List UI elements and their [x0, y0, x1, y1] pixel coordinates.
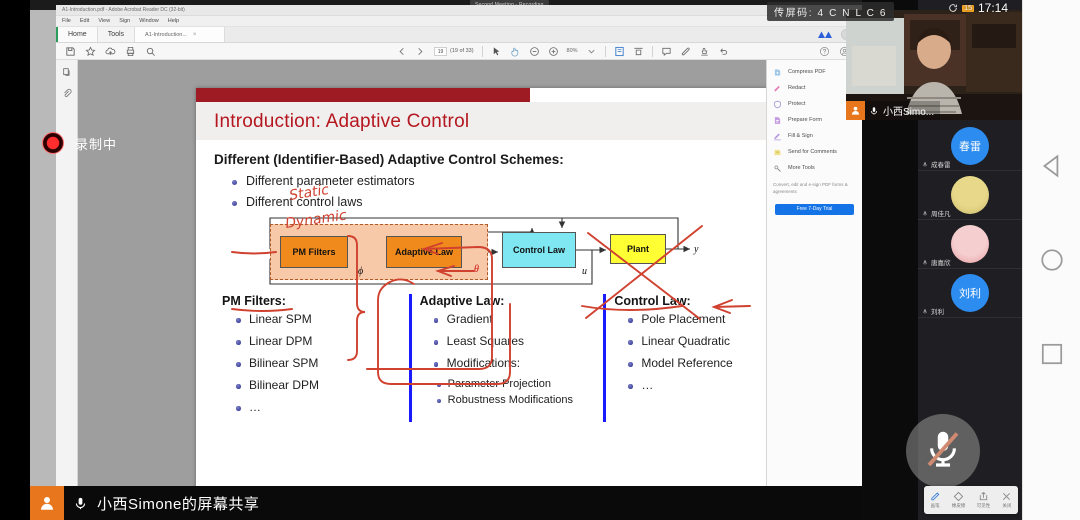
tab-tools[interactable]: Tools	[98, 27, 135, 42]
tool-send-for-comments[interactable]: Send for Comments	[767, 144, 862, 160]
highlight-icon[interactable]	[680, 46, 691, 57]
select-tool-icon[interactable]	[491, 46, 502, 57]
page-title: Introduction: Adaptive Control	[214, 111, 798, 133]
microphone-icon	[922, 308, 928, 315]
screen-share-banner: 小西Simone的屏幕共享	[30, 486, 862, 520]
menu-sign[interactable]: Sign	[119, 16, 130, 26]
tabbar-spacer	[225, 27, 817, 42]
acrobat-left-rail	[56, 60, 78, 497]
signal-y-label: y	[694, 244, 698, 255]
tab-document-label: A1-Introduction...	[145, 32, 187, 38]
list-item: Bilinear SPM	[236, 356, 401, 370]
participant-name: 刘利	[931, 306, 944, 316]
recording-indicator: 录制中	[42, 132, 117, 154]
adaptive-law-list: Gradient Least Squares Modifications:	[434, 312, 596, 370]
tool-more-tools[interactable]: More Tools	[767, 160, 862, 176]
more-tools-icon	[773, 164, 782, 173]
mic-mute-floating-button[interactable]	[906, 414, 980, 488]
self-view-name-bar: 小西Simo...	[846, 101, 940, 120]
sync-icon	[948, 3, 958, 13]
send-comments-icon	[773, 148, 782, 157]
toolbar-divider-3	[652, 46, 653, 57]
slide-heading: Different (Identifier-Based) Adaptive Co…	[214, 152, 798, 167]
comment-icon[interactable]	[661, 46, 672, 57]
zoom-out-icon[interactable]	[529, 46, 540, 57]
block-diagram: PM Filters Adaptive Law Control Law Plan…	[262, 216, 722, 290]
participant-name: 成春雷	[931, 159, 951, 169]
list-item: Parameter Projection	[437, 378, 596, 392]
compress-icon	[773, 68, 782, 77]
stamp-icon[interactable]	[699, 46, 710, 57]
participant-name-row: 唐嘉欣	[922, 257, 951, 267]
hand-tool-icon[interactable]	[510, 46, 521, 57]
avatar: 春雷	[951, 127, 989, 165]
tool-fill-and-sign[interactable]: Fill & Sign	[767, 128, 862, 144]
star-icon[interactable]	[85, 46, 96, 57]
acrobat-window: A1-Introduction.pdf - Adobe Acrobat Read…	[56, 5, 862, 497]
microphone-icon[interactable]	[869, 105, 879, 117]
list-item: Modifications:	[434, 356, 596, 370]
acrobat-tabbar: Home Tools A1-Introduction... ×	[56, 27, 862, 43]
cast-code-label: 传屏码: 4 C N L C 6	[767, 2, 894, 21]
share-icon	[978, 491, 989, 502]
list-item: Different parameter estimators	[232, 174, 798, 188]
participant-cell[interactable]: 周佳凡	[918, 171, 1022, 220]
pen-icon	[930, 491, 941, 502]
list-item: Robustness Modifications	[437, 394, 596, 408]
save-icon[interactable]	[65, 46, 76, 57]
record-dot-icon	[42, 132, 64, 154]
participant-cell[interactable]: 刘利 刘利	[918, 269, 1022, 318]
home-circle-icon[interactable]	[1039, 247, 1065, 273]
participant-badge	[30, 486, 64, 520]
page-total-label: (19 of 33)	[450, 48, 474, 54]
list-item: Different control laws	[232, 195, 798, 209]
back-triangle-icon[interactable]	[1039, 153, 1065, 179]
microphone-icon	[922, 161, 928, 168]
share-banner-label: 小西Simone的屏幕共享	[97, 493, 259, 514]
recents-square-icon[interactable]	[1039, 341, 1065, 367]
cloud-upload-icon[interactable]	[105, 46, 116, 57]
clock-label: 17:14	[978, 1, 1008, 15]
adobe-logo-icon	[817, 30, 833, 39]
menu-view[interactable]: View	[98, 16, 110, 26]
print-icon[interactable]	[125, 46, 136, 57]
next-page-icon[interactable]	[415, 46, 426, 57]
acrobat-tools-panel: Compress PDF Redact Protect Prepare Form	[766, 60, 862, 497]
participant-name: 唐嘉欣	[931, 257, 951, 267]
acrobat-menubar[interactable]: File Edit View Sign Window Help	[56, 16, 862, 27]
column-adaptive-law: Adaptive Law: Gradient Least Squares Mod…	[409, 294, 604, 422]
list-item: Linear SPM	[236, 312, 401, 326]
chevron-down-icon[interactable]	[586, 46, 597, 57]
help-icon[interactable]	[819, 46, 830, 57]
zoom-in-icon[interactable]	[548, 46, 559, 57]
eraser-icon	[953, 491, 964, 502]
pm-filters-list: Linear SPM Linear DPM Bilinear SPM Bilin…	[236, 312, 401, 414]
pdf-slide-page: Introduction: Adaptive Control Different…	[196, 88, 816, 497]
avatar: 刘利	[951, 274, 989, 312]
avatar	[951, 176, 989, 214]
signal-phi-label: ϕ	[358, 266, 363, 277]
acrobat-titlebar: A1-Introduction.pdf - Adobe Acrobat Read…	[56, 5, 862, 16]
tool-label: 橡皮擦	[952, 503, 966, 509]
slide-bullet-list: Different parameter estimators Different…	[232, 174, 798, 209]
menu-edit[interactable]: Edit	[80, 16, 89, 26]
undo-icon[interactable]	[718, 46, 729, 57]
signal-u-label: u	[582, 266, 587, 277]
redact-icon	[773, 84, 782, 93]
recording-label: 录制中	[75, 134, 117, 153]
microphone-icon[interactable]	[73, 495, 88, 512]
menu-help[interactable]: Help	[168, 16, 179, 26]
avatar	[951, 225, 989, 263]
tools-panel-note: Convert, edit and e-sign PDF forms & agr…	[767, 176, 862, 202]
protect-icon	[773, 100, 782, 109]
fill-sign-icon	[773, 132, 782, 141]
slide-body: Different (Identifier-Based) Adaptive Co…	[196, 140, 816, 422]
signal-theta-label: θ	[474, 264, 479, 275]
attachments-icon[interactable]	[62, 88, 72, 98]
column-heading: PM Filters:	[222, 294, 401, 308]
page-indicator: 19 (19 of 33)	[434, 47, 474, 56]
tool-label: Prepare Form	[788, 117, 822, 123]
close-icon	[1001, 491, 1012, 502]
tab-home[interactable]: Home	[56, 27, 98, 42]
page-thumbnails-icon[interactable]	[62, 67, 72, 77]
participant-cell[interactable]: 春雷 成春雷	[918, 122, 1022, 171]
participant-badge	[846, 101, 865, 120]
person-icon	[850, 105, 861, 116]
block-plant: Plant	[610, 234, 666, 264]
list-item: …	[236, 400, 401, 414]
annotation-toolbar[interactable]: 画笔 橡皮擦 可见性 关闭	[924, 486, 1018, 514]
tab-close-icon[interactable]: ×	[193, 32, 197, 38]
acrobat-toolbar: 19 (19 of 33) 80%	[56, 43, 862, 60]
android-navigation-bar[interactable]	[1022, 0, 1080, 520]
tool-label: Fill & Sign	[788, 133, 813, 139]
tool-label: Send for Comments	[788, 149, 837, 155]
microphone-icon	[922, 259, 928, 266]
document-viewport[interactable]: Introduction: Adaptive Control Different…	[56, 60, 862, 497]
slide-title-band: Introduction: Adaptive Control	[196, 102, 816, 140]
left-black-gutter	[0, 0, 30, 520]
zoom-level-label[interactable]: 80%	[567, 48, 578, 54]
status-bar-clock-group: 15 17:14	[948, 1, 1008, 15]
menu-window[interactable]: Window	[139, 16, 159, 26]
participant-name: 周佳凡	[931, 208, 951, 218]
participant-cell[interactable]: 唐嘉欣	[918, 220, 1022, 269]
three-column-section: PM Filters: Linear SPM Linear DPM Biline…	[214, 294, 798, 422]
tool-label: More Tools	[788, 165, 815, 171]
person-icon	[38, 494, 56, 512]
tab-tools-label: Tools	[108, 31, 124, 38]
page-fit-icon[interactable]	[614, 46, 625, 57]
column-heading: Control Law:	[614, 294, 790, 308]
list-item: Least Squares	[434, 334, 596, 348]
list-item: Linear DPM	[236, 334, 401, 348]
participant-name-row: 刘利	[922, 306, 944, 316]
page-number-input[interactable]: 19	[434, 47, 447, 56]
toolbar-center-group: 19 (19 of 33) 80%	[396, 46, 729, 57]
search-icon[interactable]	[145, 46, 156, 57]
column-heading: Adaptive Law:	[420, 294, 596, 308]
tool-pen[interactable]: 画笔	[930, 491, 941, 509]
tool-label: Protect	[788, 101, 805, 107]
block-pm-filters: PM Filters	[280, 236, 348, 268]
participant-name-row: 成春雷	[922, 159, 951, 169]
tab-home-label: Home	[68, 31, 87, 38]
tool-label: 关闭	[1002, 503, 1011, 509]
tool-label: Redact	[788, 85, 805, 91]
microphone-icon	[922, 210, 928, 217]
column-pm-filters: PM Filters: Linear SPM Linear DPM Biline…	[214, 294, 409, 422]
tool-label: Compress PDF	[788, 69, 826, 75]
block-adaptive-law: Adaptive Law	[386, 236, 462, 268]
adaptive-law-sublist: Parameter Projection Robustness Modifica…	[437, 378, 596, 408]
participant-name-row: 周佳凡	[922, 208, 951, 218]
screen-root: Second Meeting - Recording A1-Introducti…	[0, 0, 1080, 520]
tool-share[interactable]: 可见性	[977, 491, 991, 509]
slide-accent-bar	[196, 88, 530, 102]
tool-eraser[interactable]: 橡皮擦	[952, 491, 966, 509]
menu-file[interactable]: File	[62, 16, 71, 26]
prepare-form-icon	[773, 116, 782, 125]
tool-label: 画笔	[931, 503, 940, 509]
toolbar-left-group	[56, 46, 156, 57]
toolbar-divider-2	[605, 46, 606, 57]
self-view-video-tile[interactable]: 小西Simo...	[846, 10, 1022, 120]
page-width-icon[interactable]	[633, 46, 644, 57]
self-view-name: 小西Simo...	[883, 103, 934, 118]
toolbar-divider	[482, 46, 483, 57]
previous-page-icon[interactable]	[396, 46, 407, 57]
mirrored-desktop: Second Meeting - Recording A1-Introducti…	[30, 0, 862, 520]
battery-level: 15	[962, 5, 974, 12]
list-item: Bilinear DPM	[236, 378, 401, 392]
tool-close[interactable]: 关闭	[1001, 491, 1012, 509]
block-control-law: Control Law	[502, 232, 576, 268]
microphone-muted-icon	[922, 428, 964, 474]
tool-label: 可见性	[977, 503, 991, 509]
list-item: Gradient	[434, 312, 596, 326]
free-trial-button[interactable]: Free 7-Day Trial	[775, 204, 854, 215]
tab-document[interactable]: A1-Introduction... ×	[135, 27, 225, 42]
